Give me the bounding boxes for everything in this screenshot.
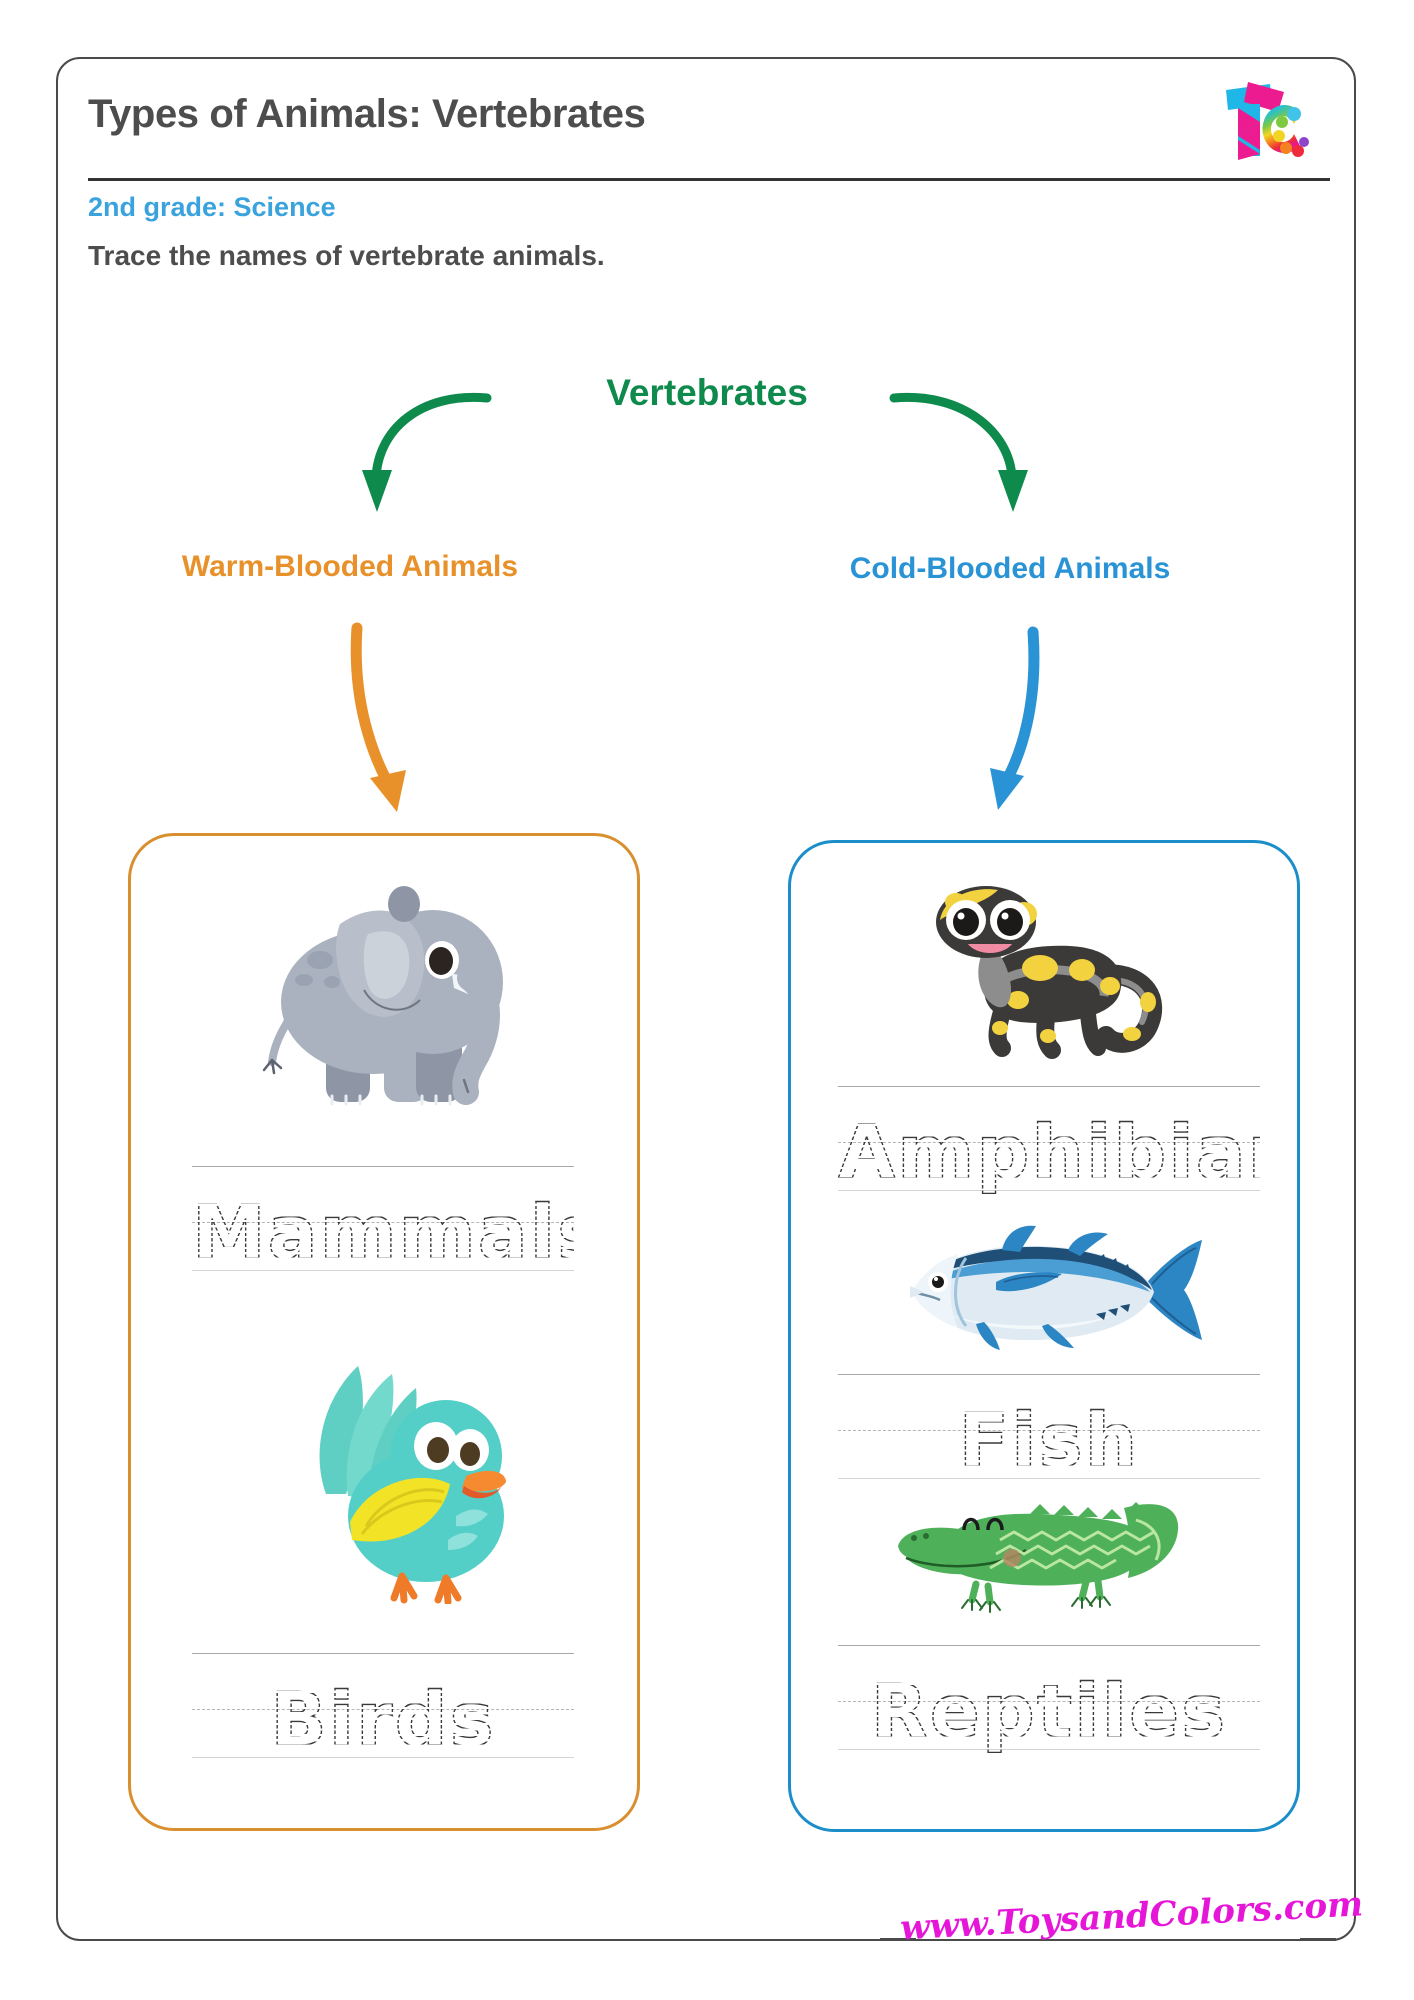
- trace-line-top: [838, 1086, 1260, 1087]
- instruction-text: Trace the names of vertebrate animals.: [88, 240, 605, 272]
- salamander-illustration: [910, 876, 1180, 1071]
- vertebrates-heading: Vertebrates: [0, 372, 1414, 414]
- trace-line-top: [838, 1645, 1260, 1646]
- trace-word-fish: Fish: [838, 1404, 1260, 1478]
- bird-illustration: [250, 1344, 520, 1609]
- crocodile-illustration: [880, 1486, 1200, 1631]
- header-divider: [88, 178, 1330, 181]
- trace-row-reptiles[interactable]: Reptiles: [838, 1645, 1260, 1755]
- trace-row-birds[interactable]: Birds: [192, 1653, 574, 1763]
- footer-rule-right: [1300, 1938, 1336, 1941]
- cold-blooded-heading: Cold-Blooded Animals: [760, 552, 1260, 586]
- trace-row-fish[interactable]: Fish: [838, 1374, 1260, 1484]
- trace-word-reptiles: Reptiles: [838, 1675, 1260, 1749]
- toysandcolors-logo: [1208, 78, 1316, 174]
- page-title: Types of Animals: Vertebrates: [88, 92, 645, 137]
- elephant-illustration: [228, 882, 528, 1132]
- trace-line-top: [838, 1374, 1260, 1375]
- trace-row-mammals[interactable]: Mammals: [192, 1166, 574, 1276]
- trace-word-mammals: Mammals: [192, 1196, 574, 1270]
- trace-row-amphibians[interactable]: Amphibians: [838, 1086, 1260, 1196]
- trace-word-mask: Birds: [192, 1667, 574, 1763]
- trace-line-top: [192, 1166, 574, 1167]
- fish-illustration: [890, 1222, 1210, 1367]
- trace-word-birds: Birds: [192, 1683, 574, 1757]
- grade-subject-label: 2nd grade: Science: [88, 192, 336, 223]
- trace-word-mask: Fish: [838, 1388, 1260, 1484]
- warm-blooded-heading: Warm-Blooded Animals: [100, 550, 600, 584]
- trace-line-top: [192, 1653, 574, 1654]
- trace-word-mask: Mammals: [192, 1180, 574, 1276]
- trace-word-amphibians: Amphibians: [838, 1116, 1260, 1190]
- trace-word-mask: Amphibians: [838, 1100, 1260, 1196]
- trace-word-mask: Reptiles: [838, 1659, 1260, 1755]
